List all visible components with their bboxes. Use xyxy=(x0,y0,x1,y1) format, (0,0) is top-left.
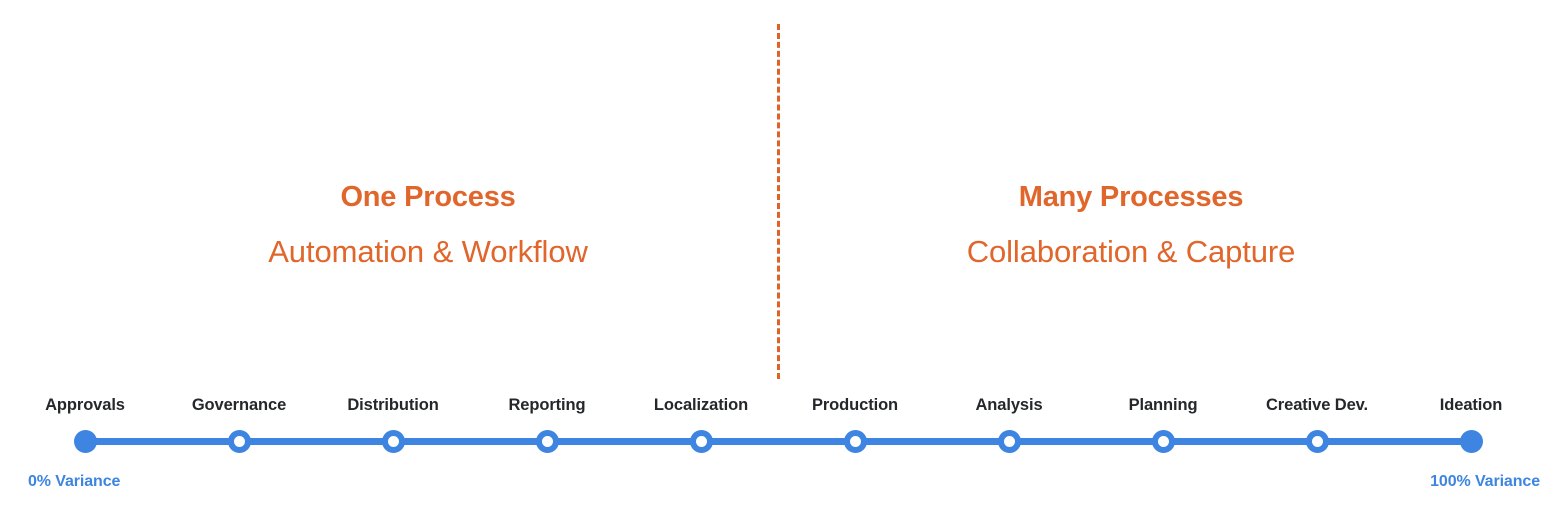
spectrum-node-label: Creative Dev. xyxy=(1266,396,1368,415)
spectrum-node-filled[interactable] xyxy=(1460,430,1483,453)
section-subtitle: Collaboration & Capture xyxy=(931,234,1331,271)
spectrum-node-hollow[interactable] xyxy=(998,430,1021,453)
section-subtitle: Automation & Workflow xyxy=(228,234,628,271)
spectrum-node-hollow[interactable] xyxy=(1152,430,1175,453)
spectrum-node-hollow[interactable] xyxy=(228,430,251,453)
variance-spectrum: ApprovalsGovernanceDistributionReporting… xyxy=(0,388,1566,503)
spectrum-node-filled[interactable] xyxy=(74,430,97,453)
spectrum-node-label: Ideation xyxy=(1440,396,1502,415)
section-title: One Process xyxy=(228,180,628,214)
section-title: Many Processes xyxy=(931,180,1331,214)
spectrum-node-hollow[interactable] xyxy=(382,430,405,453)
spectrum-node-label: Reporting xyxy=(508,396,585,415)
section-many-processes: Many Processes Collaboration & Capture xyxy=(931,180,1331,271)
spectrum-node-label: Localization xyxy=(654,396,748,415)
spectrum-node-label: Distribution xyxy=(347,396,438,415)
spectrum-node-label: Planning xyxy=(1129,396,1198,415)
spectrum-track xyxy=(85,438,1482,445)
variance-end-caption: 100% Variance xyxy=(1430,473,1540,491)
spectrum-node-label: Production xyxy=(812,396,898,415)
spectrum-node-label: Approvals xyxy=(45,396,125,415)
spectrum-node-hollow[interactable] xyxy=(690,430,713,453)
spectrum-node-label: Governance xyxy=(192,396,286,415)
process-variance-diagram: One Process Automation & Workflow Many P… xyxy=(0,0,1566,518)
spectrum-node-hollow[interactable] xyxy=(844,430,867,453)
spectrum-node-label: Analysis xyxy=(975,396,1042,415)
spectrum-node-hollow[interactable] xyxy=(536,430,559,453)
vertical-dashed-divider-icon xyxy=(777,24,780,379)
variance-start-caption: 0% Variance xyxy=(28,473,120,491)
spectrum-node-hollow[interactable] xyxy=(1306,430,1329,453)
section-one-process: One Process Automation & Workflow xyxy=(228,180,628,271)
